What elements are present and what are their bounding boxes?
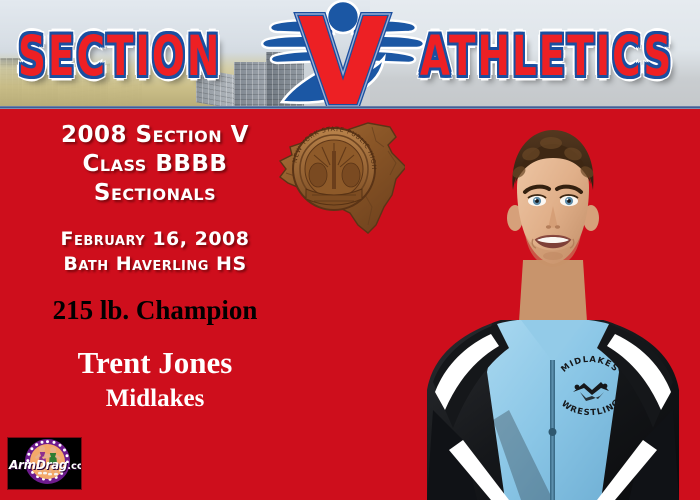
event-line-1: 2008 Section V	[0, 122, 310, 148]
graphic-canvas: SECTION ATHLETICS	[0, 0, 700, 500]
section-v-athletics-banner: SECTION ATHLETICS	[0, 0, 700, 110]
event-line-2: Class BBBB	[0, 151, 310, 177]
event-venue: Bath Haverling HS	[0, 253, 310, 275]
athlete-team: Midlakes	[0, 385, 310, 413]
armdrag-brand-arm: Arm	[9, 458, 36, 472]
armdrag-brand-tld: .com	[67, 461, 82, 472]
weight-class-title: 215 lb. Champion	[0, 295, 310, 326]
banner-word-athletics: ATHLETICS	[420, 28, 673, 83]
event-date: February 16, 2008	[0, 228, 310, 250]
athlete-portrait-photo: MIDLAKES WRESTLING	[405, 110, 700, 500]
armdrag-wordmark: ArmDrag.com	[9, 459, 81, 473]
armdrag-brand-drag: Drag	[36, 458, 67, 472]
event-line-3: Sectionals	[0, 180, 310, 206]
banner-word-section: SECTION	[18, 28, 221, 83]
athlete-name: Trent Jones	[0, 345, 310, 381]
armdrag-watermark-badge[interactable]: ArmDrag.com	[7, 437, 82, 490]
section-v-winged-logo-icon	[248, 0, 438, 110]
